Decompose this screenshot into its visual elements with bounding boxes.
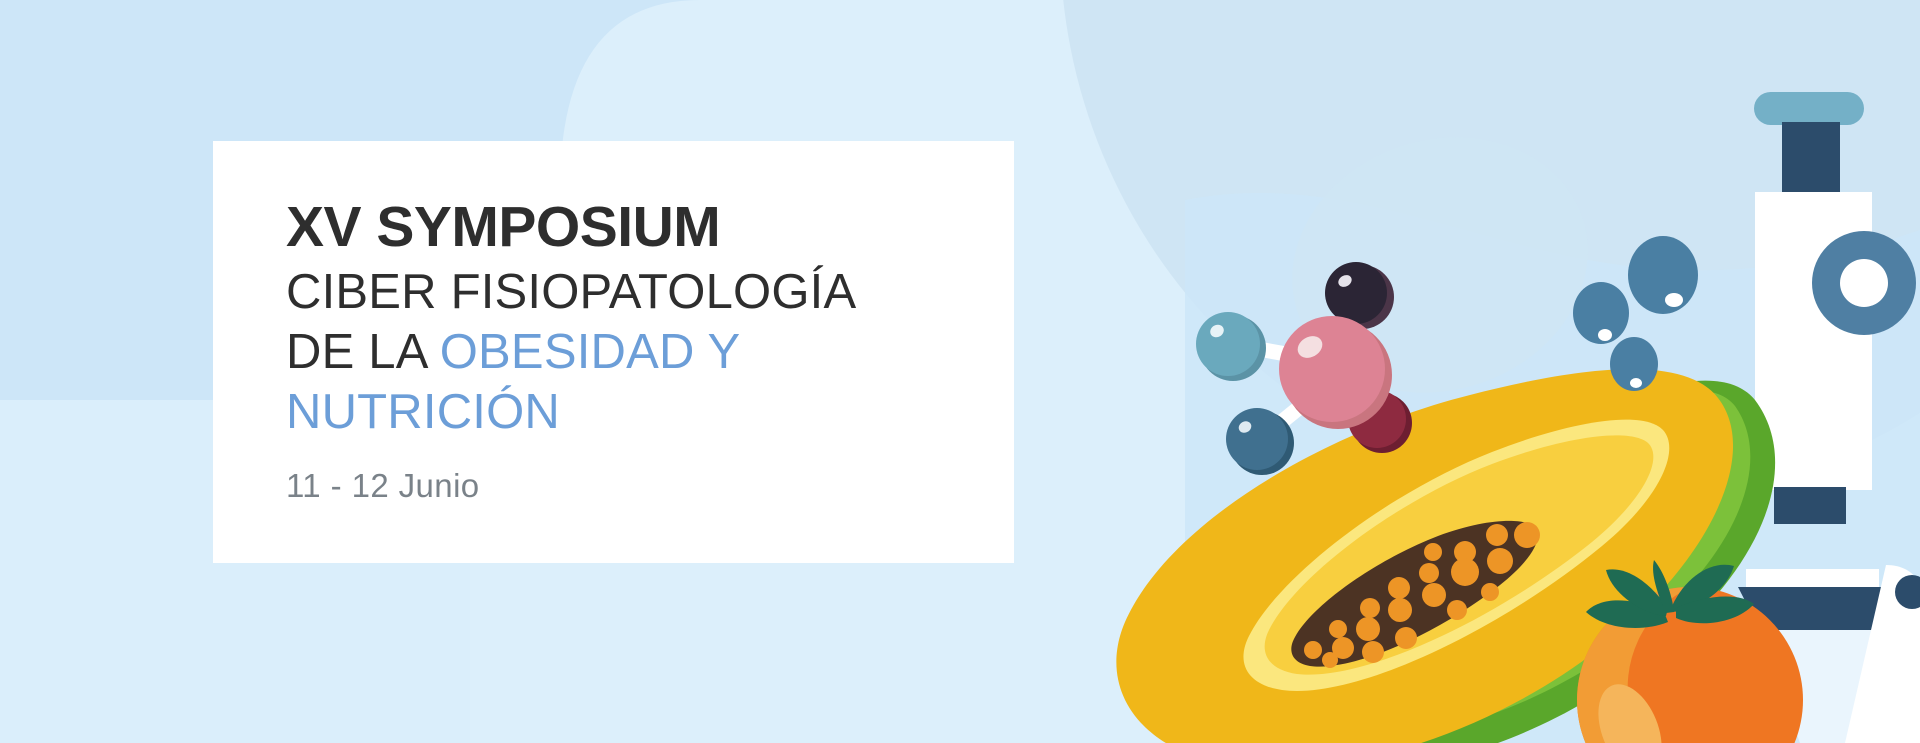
subtitle-line-1: CIBER FISIOPATOLOGÍA <box>286 265 856 319</box>
page-title: XV SYMPOSIUM <box>286 197 1014 257</box>
atom-teal <box>1196 312 1266 381</box>
event-subtitle: CIBER FISIOPATOLOGÍA DE LA OBESIDAD Y NU… <box>286 263 926 442</box>
event-banner: XV SYMPOSIUM CIBER FISIOPATOLOGÍA DE LA … <box>0 0 1920 743</box>
subtitle-line-2-accent: OBESIDAD Y <box>440 325 741 379</box>
subtitle-line-2-dark: DE LA <box>286 325 440 379</box>
title-card: XV SYMPOSIUM CIBER FISIOPATOLOGÍA DE LA … <box>213 141 1014 563</box>
event-dates: 11 - 12 Junio <box>286 467 1014 505</box>
subtitle-line-3-accent: NUTRICIÓN <box>286 385 560 439</box>
